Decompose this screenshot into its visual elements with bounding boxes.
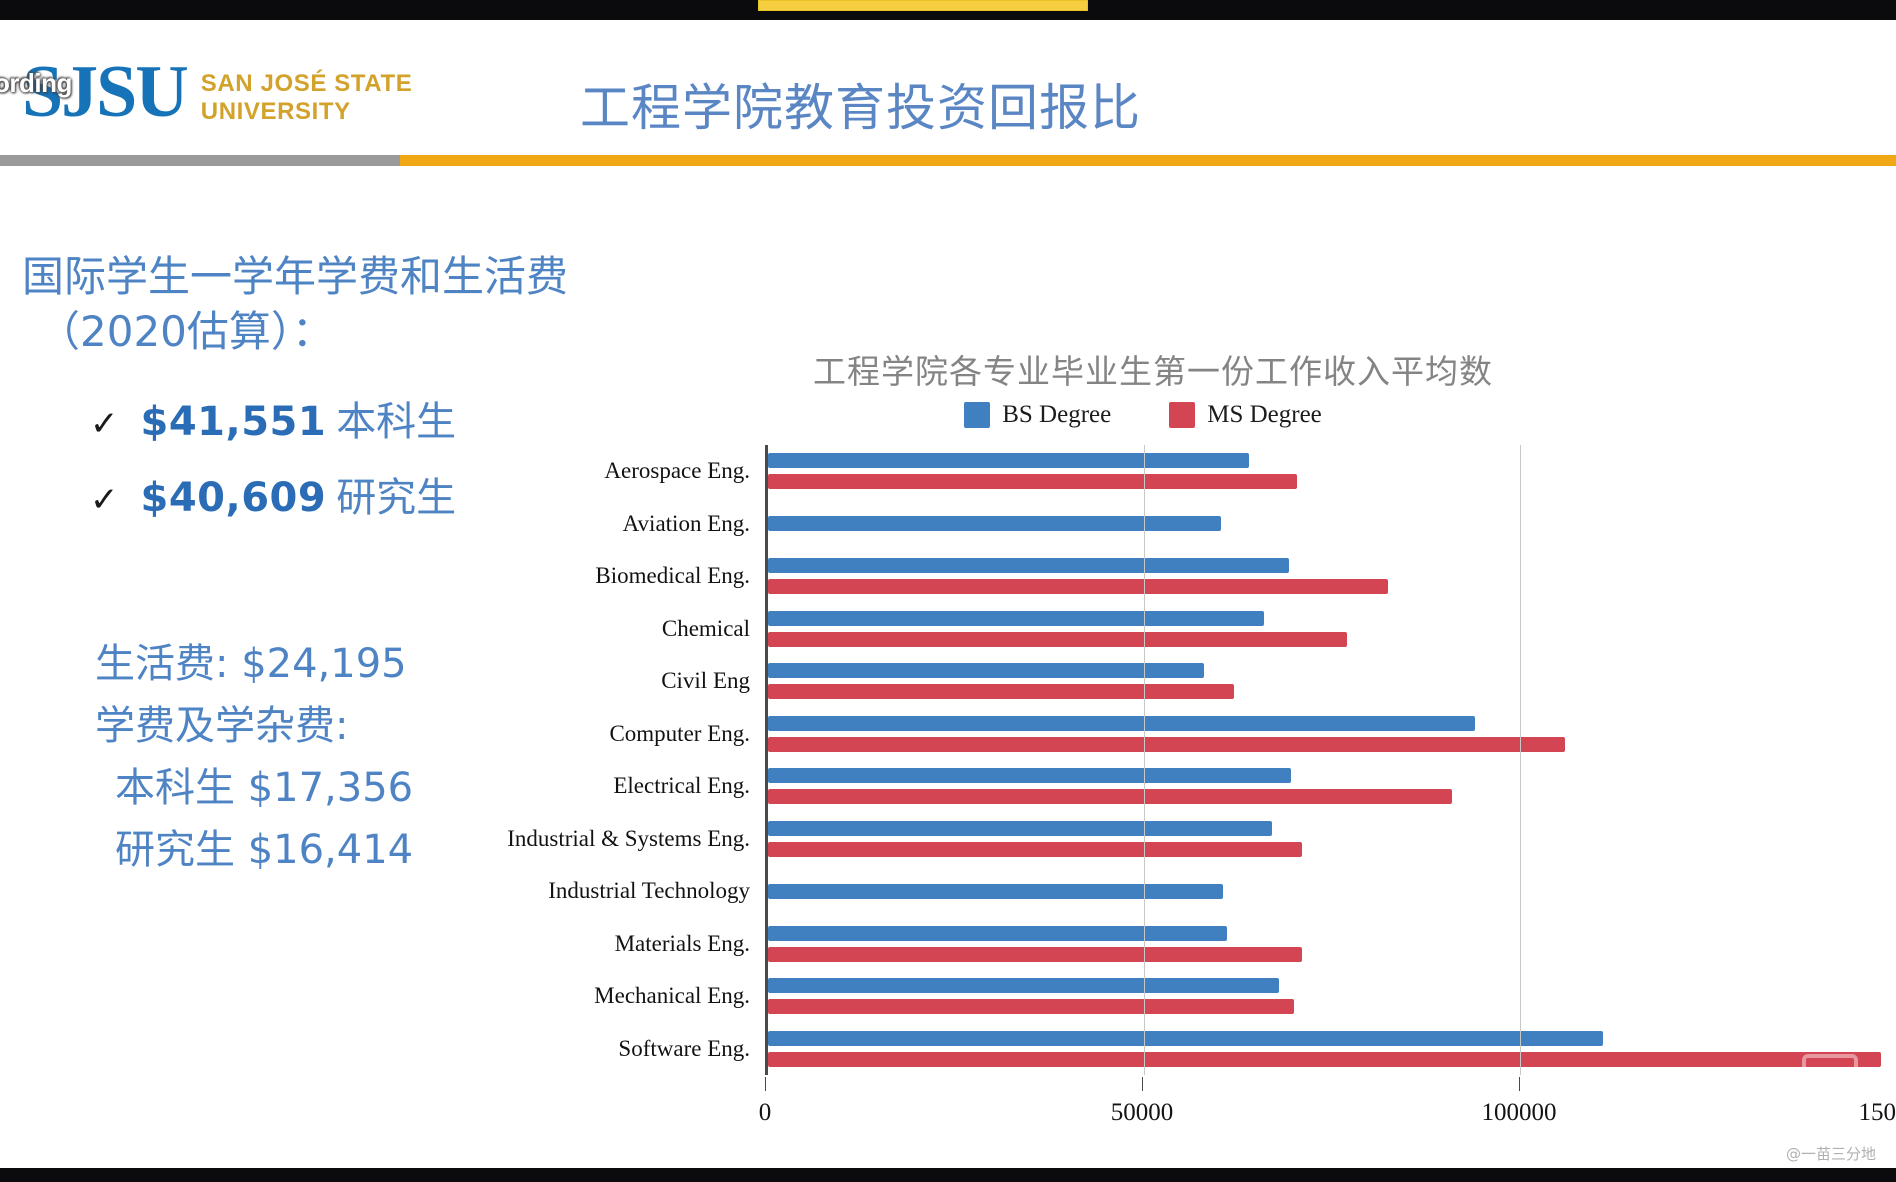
chart-x-tick-label: 50000 — [1111, 1099, 1174, 1127]
chart-bar[interactable] — [768, 1031, 1603, 1046]
cost-bullet-list: ✓ $41,551 本科生 ✓ $40,609 研究生 — [0, 389, 640, 523]
chart-bar[interactable] — [768, 611, 1264, 626]
chart-title: 工程学院各专业毕业生第一份工作收入平均数 — [560, 345, 1896, 393]
chart-bar-group — [768, 970, 1896, 1023]
chart-bar-group — [768, 655, 1896, 708]
chart-bar[interactable] — [768, 716, 1475, 731]
recording-indicator-label: ording — [0, 68, 72, 99]
chart-x-axis: 050000100000150000 — [765, 1077, 1896, 1137]
chart-gridline — [1520, 445, 1521, 1075]
presentation-slide: ording SJSU SAN JOSÉ STATE UNIVERSITY 工程… — [0, 0, 1896, 1182]
sjsu-logo-wordmark: SAN JOSÉ STATE UNIVERSITY — [201, 70, 413, 127]
left-text-column: 国际学生一学年学费和生活费 （2020估算）： ✓ $41,551 本科生 ✓ … — [0, 250, 640, 881]
chart-bar-rows — [768, 445, 1896, 1075]
chart-category-label: Materials Eng. — [615, 931, 750, 957]
chart-category-label: Biomedical Eng. — [595, 563, 750, 589]
chart-category-label: Chemical — [662, 616, 750, 642]
chart-bar[interactable] — [768, 516, 1221, 531]
bullet-audience: 本科生 — [336, 389, 456, 447]
chart-category-label: Industrial & Systems Eng. — [507, 826, 750, 852]
chart-bar[interactable] — [768, 453, 1249, 468]
chart-category-label: Industrial Technology — [548, 878, 750, 904]
channel-watermark-label: @一苗三分地 — [1786, 1143, 1876, 1164]
chart-x-tick-label: 150000 — [1859, 1099, 1896, 1127]
legend-swatch-ms — [1169, 402, 1195, 428]
chart-bar[interactable] — [768, 842, 1302, 857]
bullet-amount: $40,609 — [141, 475, 327, 521]
lede-line-2: （2020估算）： — [22, 305, 640, 360]
chart-plot-area — [765, 445, 1896, 1075]
chart-x-tick — [765, 1077, 766, 1091]
chart-x-tick-label: 100000 — [1482, 1099, 1557, 1127]
chart-bar-group — [768, 708, 1896, 761]
salary-bar-chart: 工程学院各专业毕业生第一份工作收入平均数 BS Degree MS Degree… — [560, 345, 1896, 1155]
chart-bar-group — [768, 918, 1896, 971]
list-item: ✓ $41,551 本科生 — [90, 389, 640, 447]
sjsu-logo: SJSU SAN JOSÉ STATE UNIVERSITY — [22, 58, 412, 127]
chart-category-label: Computer Eng. — [609, 721, 750, 747]
legend-label-ms: MS Degree — [1207, 401, 1322, 429]
video-progress-highlight[interactable] — [758, 0, 1088, 11]
chart-bar[interactable] — [768, 978, 1279, 993]
header-divider-rule — [0, 155, 1896, 166]
chart-category-label: Aerospace Eng. — [604, 458, 750, 484]
bullet-amount: $41,551 — [141, 399, 327, 445]
cost-tuition-undergrad: 本科生 $17,356 — [95, 757, 640, 819]
sjsu-logo-line-1: SAN JOSÉ STATE — [201, 70, 413, 98]
sjsu-logo-line-2: UNIVERSITY — [201, 98, 413, 126]
cost-living-expense: 生活费: $24,195 — [95, 633, 640, 695]
lede-block: 国际学生一学年学费和生活费 （2020估算）： — [0, 250, 640, 359]
list-item: ✓ $40,609 研究生 — [90, 465, 640, 523]
check-icon: ✓ — [90, 483, 119, 517]
legend-swatch-bs — [964, 402, 990, 428]
chart-category-label: Aviation Eng. — [623, 511, 750, 537]
cost-tuition-heading: 学费及学杂费: — [95, 695, 640, 757]
chart-x-tick — [1142, 1077, 1143, 1091]
chart-bar-group — [768, 445, 1896, 498]
chart-category-label: Civil Eng — [661, 668, 750, 694]
header-rule-grey-segment — [0, 155, 400, 166]
chart-bar[interactable] — [768, 558, 1289, 573]
chart-bar[interactable] — [768, 789, 1452, 804]
chart-bar[interactable] — [768, 737, 1565, 752]
legend-label-bs: BS Degree — [1002, 401, 1111, 429]
chart-legend: BS Degree MS Degree — [560, 401, 1896, 429]
chart-x-tick-label: 0 — [759, 1099, 772, 1127]
chart-bar-group — [768, 1023, 1896, 1076]
chart-bar[interactable] — [768, 947, 1302, 962]
chart-category-label: Mechanical Eng. — [594, 983, 750, 1009]
slide-header: ording SJSU SAN JOSÉ STATE UNIVERSITY 工程… — [0, 20, 1896, 165]
chart-bar[interactable] — [768, 768, 1291, 783]
check-icon: ✓ — [90, 407, 119, 441]
chart-plot: Aerospace Eng.Aviation Eng.Biomedical En… — [560, 445, 1896, 1075]
chart-bar-group — [768, 498, 1896, 551]
chart-x-tick — [1519, 1077, 1520, 1091]
chart-bar[interactable] — [768, 579, 1388, 594]
chart-category-axis: Aerospace Eng.Aviation Eng.Biomedical En… — [560, 445, 760, 1075]
chart-bar-group — [768, 760, 1896, 813]
legend-item-bs[interactable]: BS Degree — [964, 401, 1111, 429]
chart-bar[interactable] — [768, 926, 1227, 941]
chart-bar[interactable] — [768, 474, 1297, 489]
chart-bar-group — [768, 865, 1896, 918]
lede-line-1: 国际学生一学年学费和生活费 — [22, 250, 640, 305]
legend-item-ms[interactable]: MS Degree — [1169, 401, 1322, 429]
chart-bar[interactable] — [768, 684, 1234, 699]
chart-bar[interactable] — [768, 821, 1272, 836]
chart-bar[interactable] — [768, 1052, 1881, 1067]
chart-bar-group — [768, 550, 1896, 603]
chart-category-label: Electrical Eng. — [613, 773, 750, 799]
header-rule-gold-segment — [400, 155, 1896, 166]
bullet-audience: 研究生 — [336, 465, 456, 523]
chart-bar[interactable] — [768, 999, 1294, 1014]
chart-category-label: Software Eng. — [618, 1036, 750, 1062]
chart-bar-group — [768, 813, 1896, 866]
video-letterbox-bottom — [0, 1168, 1896, 1182]
chart-gridline — [1144, 445, 1145, 1075]
chart-bar-group — [768, 603, 1896, 656]
chart-bar[interactable] — [768, 884, 1223, 899]
slide-title: 工程学院教育投资回报比 — [580, 68, 1141, 140]
chart-bar[interactable] — [768, 632, 1347, 647]
chart-bar[interactable] — [768, 663, 1204, 678]
